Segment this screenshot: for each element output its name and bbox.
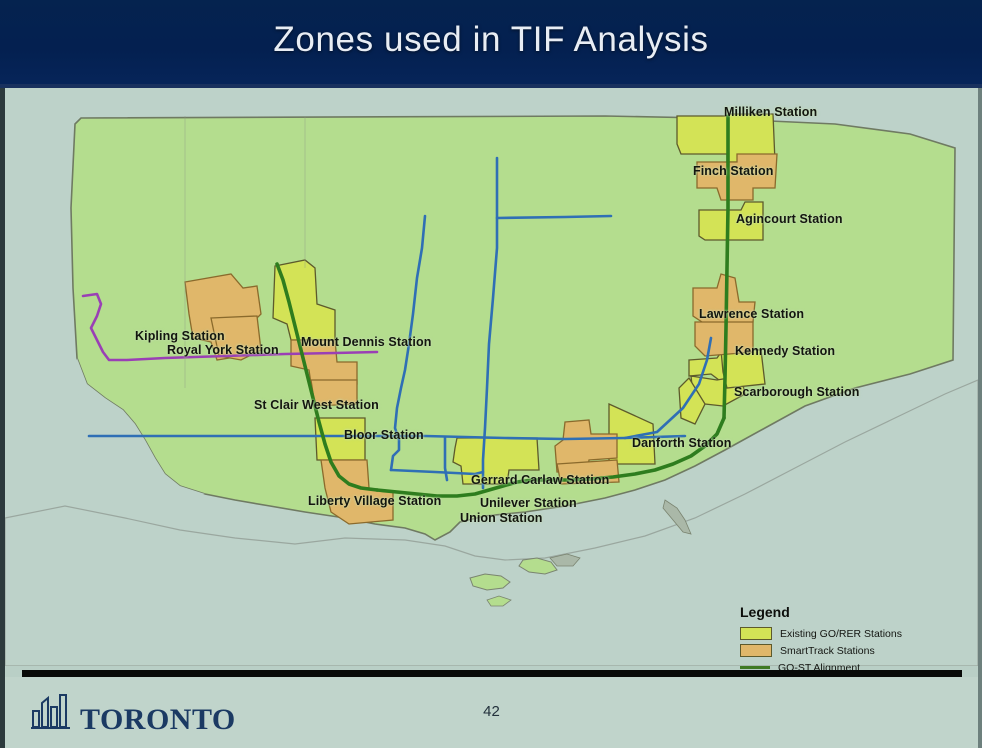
station-label: Danforth Station [632,436,732,450]
toronto-zone-map [5,88,978,666]
legend-label-existing-go-rer: Existing GO/RER Stations [780,628,902,640]
station-label: Liberty Village Station [308,494,441,508]
legend-swatch-smarttrack [740,644,772,657]
station-label: Bloor Station [344,428,424,442]
station-label: Milliken Station [724,105,817,119]
slide-right-edge [978,0,982,748]
station-label: Royal York Station [167,343,279,357]
legend-item-existing-go-rer: Existing GO/RER Stations [740,626,955,641]
page-title: Zones used in TIF Analysis [0,20,982,60]
legend-item-smarttrack: SmartTrack Stations [740,643,955,658]
legend-line-go-st-alignment [740,666,770,669]
page-number: 42 [5,703,978,720]
station-label: Finch Station [693,164,773,178]
station-label: Kipling Station [135,329,225,343]
station-label: Scarborough Station [734,385,860,399]
legend-label-smarttrack: SmartTrack Stations [780,645,875,657]
legend-title: Legend [740,604,955,620]
station-label: Gerrard Carlaw Station [471,473,609,487]
slide-footer: TORONTO 42 [5,677,978,748]
station-label: Unilever Station [480,496,577,510]
station-label: Kennedy Station [735,344,835,358]
legend-swatch-existing-go-rer [740,627,772,640]
station-label: St Clair West Station [254,398,379,412]
station-label: Union Station [460,511,543,525]
station-label: Mount Dennis Station [301,335,431,349]
slide-canvas: Zones used in TIF Analysis [0,0,982,748]
map-container: Milliken Station Finch Station Agincourt… [5,88,978,666]
footer-divider-bar [22,670,962,677]
station-label: Lawrence Station [699,307,804,321]
station-label: Agincourt Station [736,212,843,226]
